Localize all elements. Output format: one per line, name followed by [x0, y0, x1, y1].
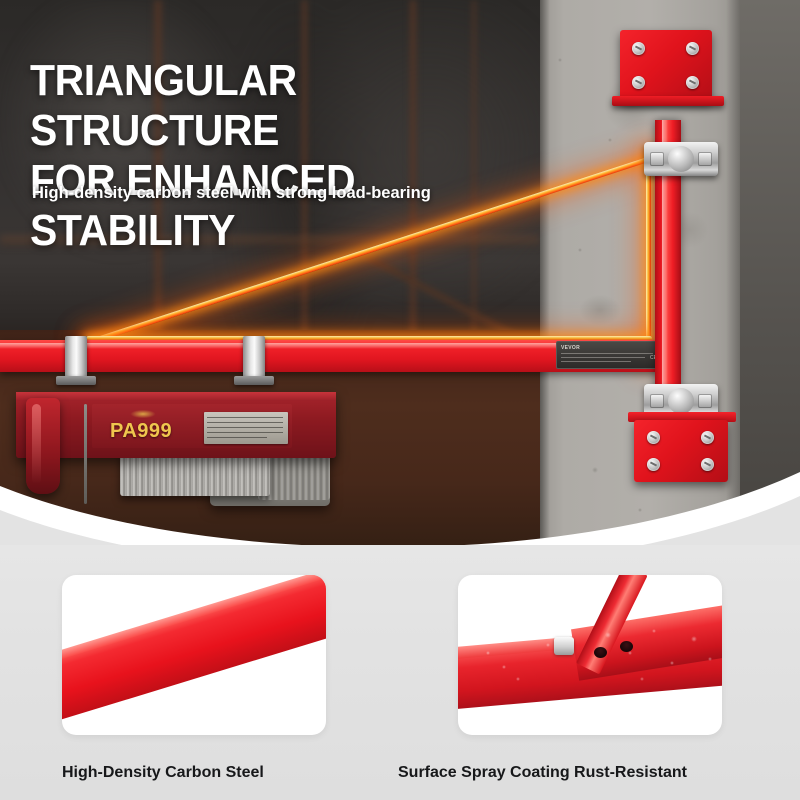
beam-clamp-foot	[56, 376, 96, 385]
beam-clamp-foot	[234, 376, 274, 385]
headline-line-1: TRIANGULAR STRUCTURE	[30, 56, 514, 156]
glow-vertical-highlight	[646, 150, 651, 362]
bolt-icon	[686, 42, 699, 55]
product-marketing-image: VEVOR CE	[0, 0, 800, 800]
beam-clamp	[65, 336, 87, 380]
feature-card-rust-resistant	[458, 575, 722, 735]
beam-clamp	[243, 336, 265, 380]
spec-line	[207, 432, 283, 433]
label-line	[561, 353, 653, 354]
feature-caption-2: Surface Spray Coating Rust-Resistant	[398, 764, 687, 782]
bolt-icon	[701, 431, 714, 444]
label-line	[561, 361, 631, 362]
bolt-icon	[632, 42, 645, 55]
page-title: TRIANGULAR STRUCTURE FOR ENHANCED STABIL…	[30, 56, 514, 256]
water-droplets-overlay	[458, 575, 722, 735]
page-subtitle: High-density carbon steel with strong lo…	[32, 184, 572, 203]
clamp-nut	[650, 152, 664, 166]
label-line	[561, 357, 645, 358]
clamp-nut	[650, 394, 664, 408]
steel-bar-closeup	[62, 575, 326, 726]
spec-line	[207, 417, 283, 418]
spec-line	[207, 422, 283, 423]
feature-card-carbon-steel	[62, 575, 326, 735]
bolt-icon	[647, 431, 660, 444]
clamp-nut	[698, 152, 712, 166]
arm-label-brand: VEVOR	[561, 345, 580, 351]
upper-clamp-collar	[644, 142, 718, 176]
feature-caption-1: High-Density Carbon Steel	[62, 764, 264, 782]
upper-bracket-plate	[612, 96, 724, 106]
clamp-nut	[698, 394, 712, 408]
spec-line	[207, 427, 283, 428]
spec-line	[207, 437, 267, 438]
clamp-hub	[668, 146, 694, 172]
hoist-body-top	[16, 392, 336, 401]
hoist-model-label: PA999	[110, 420, 172, 443]
bolt-icon	[686, 76, 699, 89]
upper-mounting-bracket	[620, 30, 712, 102]
hoist-spec-plate	[204, 412, 288, 444]
arm-spec-label: VEVOR CE	[556, 341, 662, 369]
headline-line-2: FOR ENHANCED STABILITY	[30, 156, 514, 256]
bolt-icon	[632, 76, 645, 89]
clamp-hub	[668, 388, 694, 414]
